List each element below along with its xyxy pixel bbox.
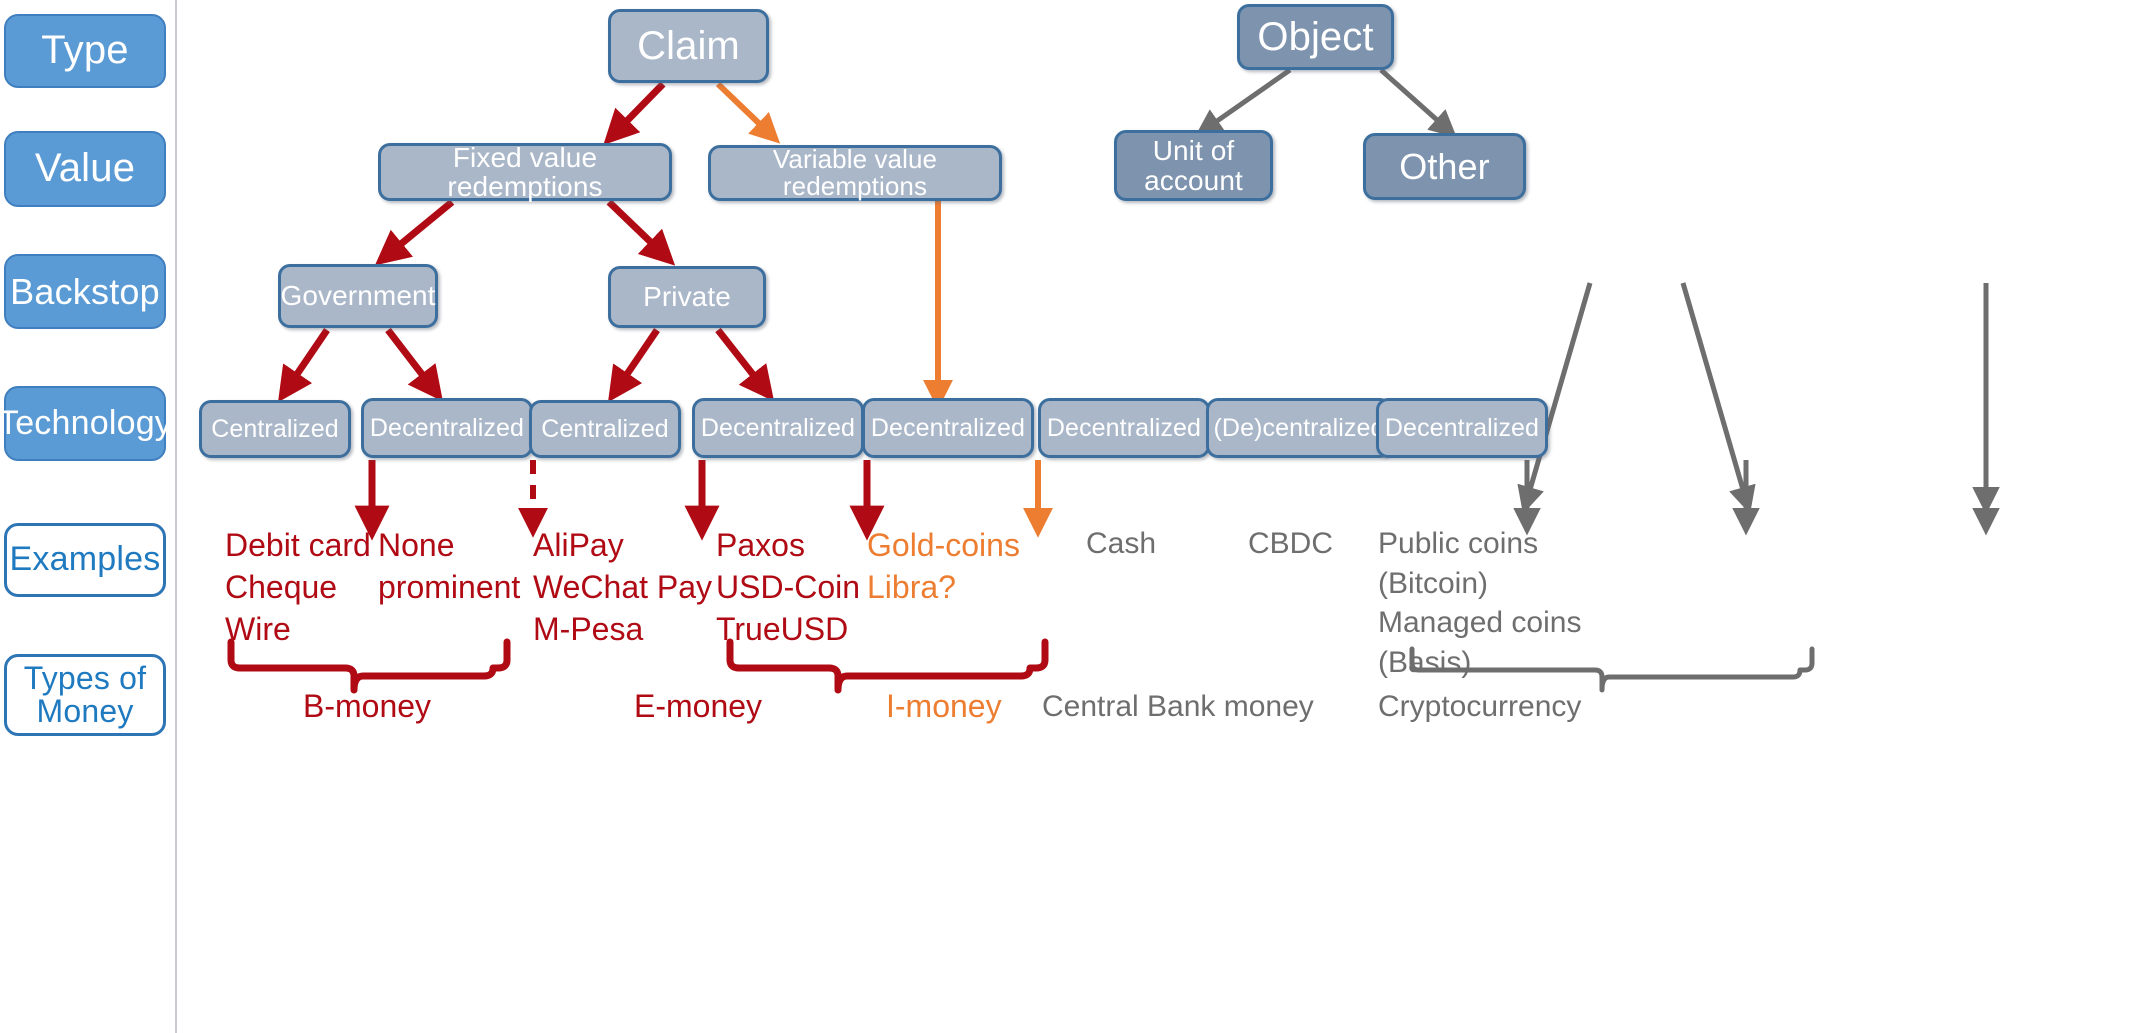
node-tech-b-centralized: Centralized	[199, 400, 351, 458]
rail-item-label: Value	[35, 148, 135, 190]
node-tech-cash-decentralized: Decentralized	[1038, 398, 1210, 458]
money-tree-diagram: Type Value Backstop Technology Examples …	[0, 0, 2145, 1033]
node-object: Object	[1237, 4, 1394, 70]
rail-item-examples: Examples	[4, 523, 166, 597]
arrow-object-to-unit-of-account	[1207, 70, 1290, 128]
arrow-object-to-other	[1381, 70, 1446, 128]
examples-cryptocurrency: Public coins (Bitcoin) Managed coins (Ba…	[1378, 524, 1581, 682]
node-private: Private	[608, 266, 766, 328]
types-of-money-i-money: I-money	[886, 688, 1002, 725]
arrow-unit-to-cbdc-tech	[1683, 283, 1746, 500]
arrow-claim-to-variable	[718, 84, 768, 132]
types-of-money-central-bank-money: Central Bank money	[1042, 690, 1314, 724]
node-label: Other	[1399, 148, 1490, 186]
examples-e-decentralized: Paxos USD-Coin TrueUSD	[716, 524, 860, 651]
examples-b-centralized: Debit card Cheque Wire	[225, 524, 371, 651]
arrow-government-to-centralized	[289, 330, 327, 386]
node-label: (De)centralized	[1213, 415, 1384, 441]
types-of-money-e-money: E-money	[634, 688, 762, 725]
types-of-money-b-money: B-money	[303, 688, 431, 725]
node-label: Centralized	[541, 416, 669, 442]
node-variable-value-redemptions: Variable value redemptions	[708, 145, 1002, 201]
node-label: Fixed value redemptions	[381, 143, 669, 202]
node-fixed-value-redemptions: Fixed value redemptions	[378, 143, 672, 201]
rail-item-technology: Technology	[4, 386, 166, 461]
node-label: Unit of account	[1144, 136, 1243, 195]
node-label: Decentralized	[701, 415, 855, 441]
node-label: Variable value redemptions	[711, 146, 999, 201]
node-tech-e-decentralized: Decentralized	[692, 398, 864, 458]
rail-divider	[175, 0, 177, 1033]
node-label: Decentralized	[871, 415, 1025, 441]
arrow-fixed-to-private	[609, 202, 661, 252]
rail-item-label: Backstop	[10, 273, 160, 310]
node-label: Private	[643, 282, 731, 311]
node-claim: Claim	[608, 9, 769, 83]
rail-item-types-of-money: Types of Money	[4, 654, 166, 736]
rail-item-backstop: Backstop	[4, 254, 166, 329]
types-of-money-cryptocurrency: Cryptocurrency	[1378, 690, 1581, 724]
arrow-private-to-decentralized	[718, 330, 762, 386]
node-government: Government	[278, 264, 438, 328]
node-tech-cbdc-decentralized: (De)centralized	[1206, 398, 1392, 458]
arrow-unit-to-cash-tech	[1527, 283, 1590, 500]
node-label: Claim	[637, 25, 740, 67]
examples-cash: Cash	[1086, 524, 1156, 564]
node-label: Government	[280, 281, 435, 310]
rail-item-label: Type	[41, 30, 129, 72]
node-label: Decentralized	[1047, 415, 1201, 441]
examples-e-centralized: AliPay WeChat Pay M-Pesa	[533, 524, 712, 651]
node-tech-e-centralized: Centralized	[529, 400, 681, 458]
rail-item-type: Type	[4, 14, 166, 88]
connector-layer	[0, 0, 2145, 1033]
examples-b-decentralized: None prominent	[378, 524, 520, 608]
node-other: Other	[1363, 133, 1526, 200]
arrow-private-to-centralized	[619, 330, 657, 386]
examples-cbdc: CBDC	[1248, 524, 1333, 564]
node-tech-crypto-decentralized: Decentralized	[1376, 398, 1548, 458]
rail-item-label: Types of Money	[24, 662, 147, 729]
rail-item-value: Value	[4, 131, 166, 207]
rail-item-label: Technology	[0, 406, 172, 441]
node-label: Decentralized	[1385, 415, 1539, 441]
node-label: Centralized	[211, 416, 339, 442]
arrow-claim-to-fixed	[617, 84, 663, 131]
node-label: Decentralized	[370, 415, 524, 441]
node-unit-of-account: Unit of account	[1114, 130, 1273, 201]
node-tech-b-decentralized: Decentralized	[361, 398, 533, 458]
node-label: Object	[1257, 16, 1373, 58]
examples-i-money: Gold-coins Libra?	[867, 524, 1020, 608]
rail-item-label: Examples	[10, 542, 161, 577]
arrow-fixed-to-government	[390, 202, 452, 253]
node-tech-i-decentralized: Decentralized	[862, 398, 1034, 458]
arrow-government-to-decentralized	[388, 330, 431, 386]
